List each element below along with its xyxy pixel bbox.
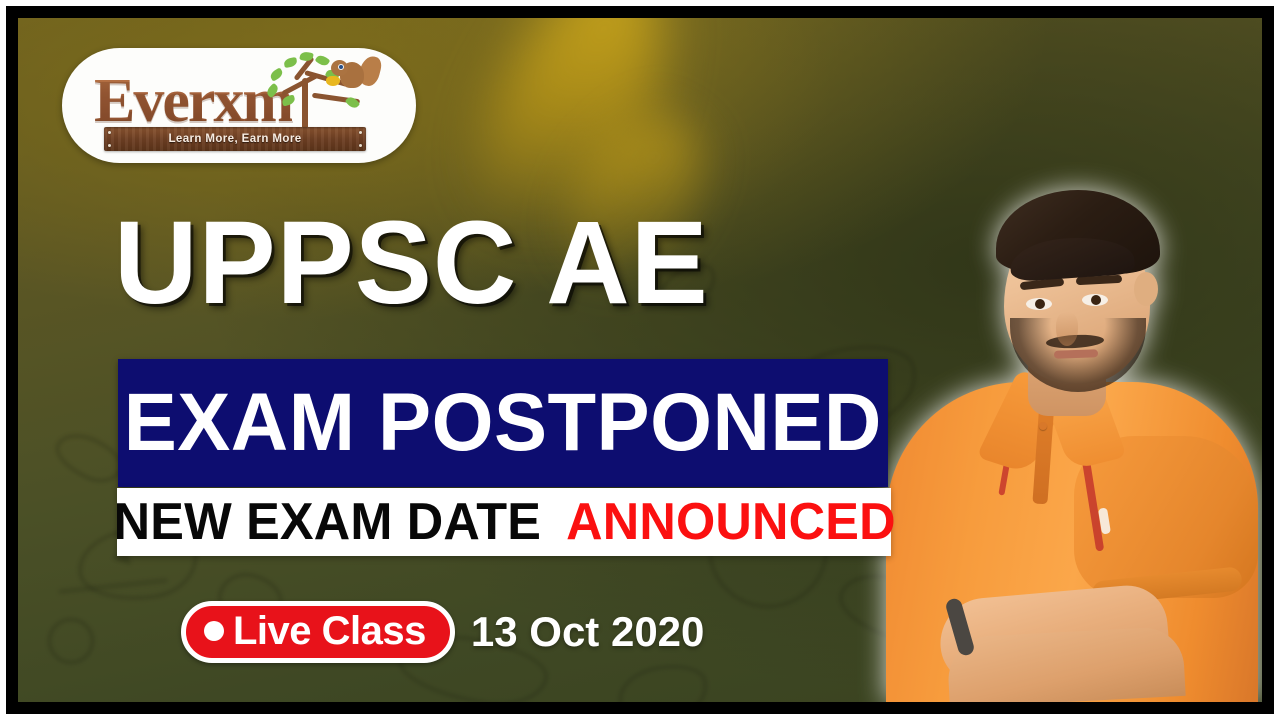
squirrel-eye-icon	[338, 64, 344, 70]
thumbnail-canvas: Everxm	[0, 0, 1280, 720]
schedule-row: Live Class 13 Oct 2020	[181, 601, 704, 663]
new-date-lead-text: NEW EXAM DATE	[113, 496, 541, 548]
thumbnail-stage: Everxm	[18, 18, 1262, 702]
brand-logo-inner: Everxm	[62, 48, 416, 163]
new-date-accent-text: ANNOUNCED	[567, 496, 897, 548]
presenter-eye-right	[1082, 294, 1108, 306]
exam-status-text: EXAM POSTPONED	[124, 382, 882, 464]
presenter-arm-lower	[946, 626, 1185, 702]
brand-tagline-plank: Learn More, Earn More	[104, 127, 366, 151]
exam-status-banner: EXAM POSTPONED	[118, 359, 888, 487]
acorn-icon	[326, 76, 340, 86]
new-date-banner: NEW EXAM DATE ANNOUNCED	[117, 488, 891, 556]
live-dot-icon	[204, 621, 224, 641]
presenter-nose	[1056, 312, 1078, 346]
live-class-badge[interactable]: Live Class	[181, 601, 455, 663]
presenter-shirt-button	[1039, 422, 1047, 430]
presenter-eye-left	[1026, 298, 1052, 310]
presenter-ear	[1134, 272, 1158, 306]
brand-logo[interactable]: Everxm	[62, 48, 416, 163]
tree-icon	[260, 52, 380, 130]
page-title: UPPSC AE	[114, 204, 898, 322]
class-date: 13 Oct 2020	[471, 611, 705, 653]
black-frame-border: Everxm	[6, 6, 1274, 714]
presenter-photo	[878, 88, 1262, 702]
live-class-label: Live Class	[233, 610, 426, 652]
presenter-mouth	[1054, 349, 1098, 359]
brand-tagline: Learn More, Earn More	[168, 133, 301, 145]
